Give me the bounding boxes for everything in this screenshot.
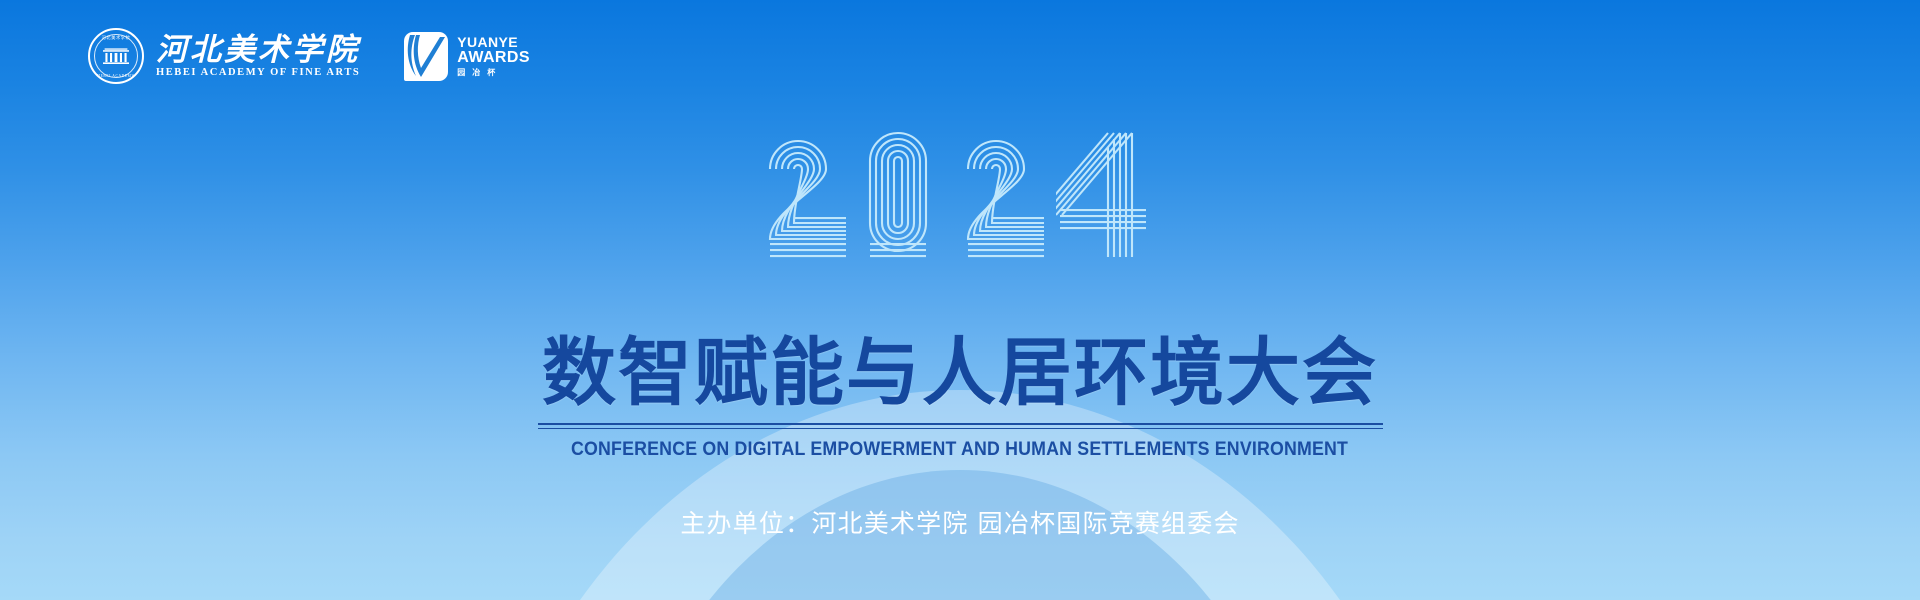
year-2024-graphic [0, 125, 1920, 265]
logo-strip: 河北美术学院 HEBEI ACADEMY 河北美术学院 HEBEI ACADEM… [88, 28, 530, 84]
hebei-academy-logo[interactable]: 河北美术学院 HEBEI ACADEMY 河北美术学院 HEBEI ACADEM… [88, 28, 360, 84]
seal-bottom-text: HEBEI ACADEMY [97, 74, 134, 78]
yuanye-cn-2: 冶 [472, 69, 480, 77]
hebei-wordmark: 河北美术学院 HEBEI ACADEMY OF FINE ARTS [156, 34, 360, 78]
yuanye-line1: YUANYE [457, 35, 530, 49]
yuanye-cn-1: 园 [457, 69, 465, 77]
yuanye-line2: AWARDS [457, 50, 530, 66]
hebei-name-en: HEBEI ACADEMY OF FINE ARTS [156, 67, 360, 78]
divider-line-bottom [538, 428, 1383, 429]
center-text-block: 数智赋能与人居环境大会 CONFERENCE ON DIGITAL EMPOWE… [0, 335, 1920, 540]
yuanye-awards-logo[interactable]: YUANYE AWARDS 园 冶 杯 [404, 32, 530, 81]
conference-banner: 河北美术学院 HEBEI ACADEMY 河北美术学院 HEBEI ACADEM… [0, 0, 1920, 600]
hebei-name-cn: 河北美术学院 [156, 34, 360, 66]
yuanye-wordmark: YUANYE AWARDS 园 冶 杯 [457, 35, 530, 77]
divider-line-top [538, 423, 1383, 425]
organizer-line: 主办单位：河北美术学院 园冶杯国际竞赛组委会 [680, 504, 1239, 540]
yuanye-mark-icon [404, 32, 448, 81]
main-title-cn: 数智赋能与人居环境大会 [542, 335, 1378, 412]
seal-top-text: 河北美术学院 [102, 35, 131, 41]
yuanye-cn-3: 杯 [487, 69, 495, 77]
year-2024-svg [760, 125, 1160, 265]
yuanye-cn-line: 园 冶 杯 [457, 69, 530, 77]
seal-gate-icon [103, 47, 129, 67]
subtitle-en: CONFERENCE ON DIGITAL EMPOWERMENT AND HU… [571, 439, 1348, 461]
title-divider [538, 423, 1383, 429]
yuanye-glyph-icon [404, 32, 448, 81]
hebei-seal-icon: 河北美术学院 HEBEI ACADEMY [88, 28, 144, 84]
